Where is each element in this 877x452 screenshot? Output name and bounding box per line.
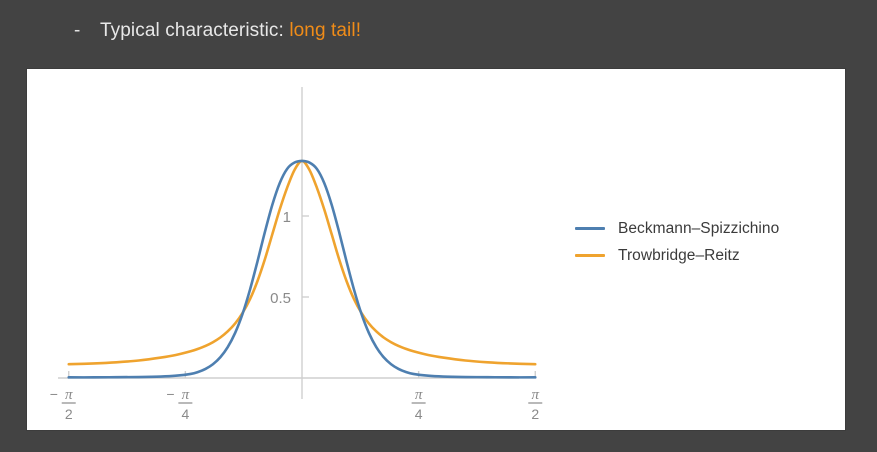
y-axis-ticks [302,216,309,297]
bullet-marker: - [74,21,100,40]
svg-text:−: − [50,386,58,402]
svg-text:−: − [166,386,174,402]
legend-swatch-trowbridge-reitz [575,254,605,257]
slide-canvas: - Typical characteristic: long tail! −π2… [0,0,877,452]
svg-text:4: 4 [181,406,189,422]
y-tick-label: 1 [283,209,291,226]
x-axis-tick-labels: −π2−π4π4π2 [50,386,543,422]
chart-legend: Beckmann–Spizzichino Trowbridge–Reitz [575,215,845,269]
svg-text:2: 2 [531,406,539,422]
svg-text:π: π [415,387,423,403]
bullet-text-before: Typical characteristic: [100,20,284,41]
bullet-text-after: ! [356,20,361,41]
y-tick-label: 0.5 [270,290,291,307]
legend-label-beckmann-spizzichino: Beckmann–Spizzichino [618,220,779,238]
y-axis-tick-labels: 0.51 [270,209,291,307]
x-tick-label: π2 [528,387,542,422]
x-tick-label: −π4 [166,386,192,422]
bullet-text: Typical characteristic: long tail! [100,21,361,40]
svg-text:π: π [182,387,190,403]
bullet-line: - Typical characteristic: long tail! [74,21,361,40]
svg-text:2: 2 [65,406,73,422]
x-tick-label: −π2 [50,386,76,422]
x-tick-label: π4 [412,387,426,422]
legend-label-trowbridge-reitz: Trowbridge–Reitz [618,247,740,265]
legend-item-trowbridge-reitz: Trowbridge–Reitz [575,242,845,269]
legend-item-beckmann-spizzichino: Beckmann–Spizzichino [575,215,845,242]
svg-text:π: π [532,387,540,403]
svg-text:π: π [65,387,73,403]
figure-panel: −π2−π4π4π2 0.51 Beckmann–Spizzichino Tro… [27,69,845,430]
svg-text:4: 4 [415,406,423,422]
bullet-highlight: long tail [289,20,355,41]
legend-swatch-beckmann-spizzichino [575,227,605,230]
